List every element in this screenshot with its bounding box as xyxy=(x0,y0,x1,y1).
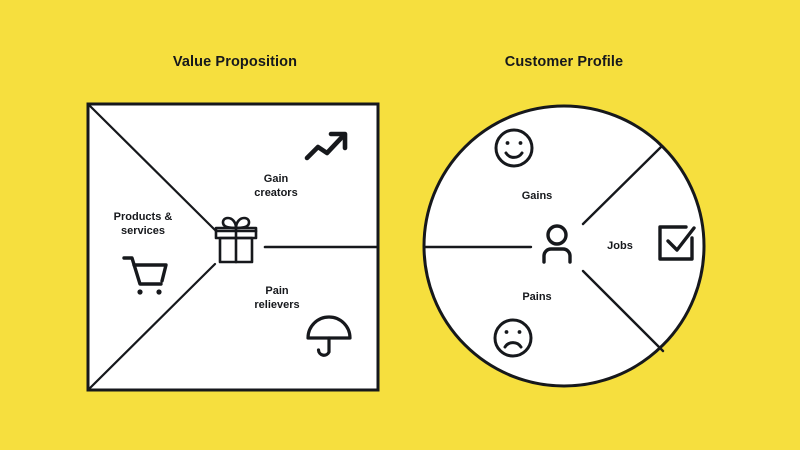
label-pain-relievers-line2: relievers xyxy=(254,298,299,312)
label-gain-creators: Gain creators xyxy=(254,172,297,200)
label-pains: Pains xyxy=(522,290,551,304)
label-products-services-line1: Products & xyxy=(114,210,173,224)
customer-profile-circle[interactable] xyxy=(424,106,704,386)
label-products-services-line2: services xyxy=(114,224,173,238)
label-gain-creators-line2: creators xyxy=(254,186,297,200)
label-pain-relievers-line1: Pain xyxy=(254,284,299,298)
label-products-services: Products & services xyxy=(114,210,173,238)
canvas-root: Value Proposition Customer Profile xyxy=(0,0,800,450)
label-gains: Gains xyxy=(522,189,553,203)
label-jobs: Jobs xyxy=(607,239,633,253)
label-gain-creators-line1: Gain xyxy=(254,172,297,186)
label-pain-relievers: Pain relievers xyxy=(254,284,299,312)
